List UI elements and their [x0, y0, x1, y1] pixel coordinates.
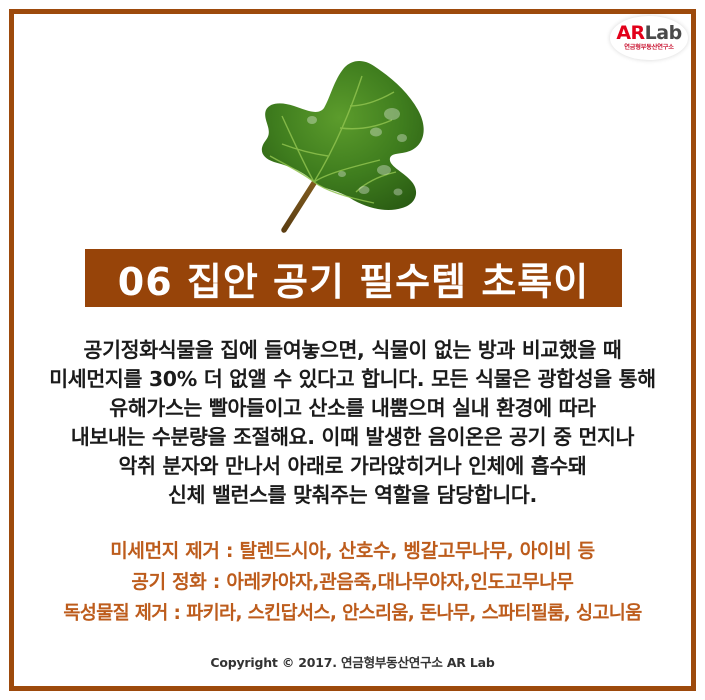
- body-line: 내보내는 수분량을 조절해요. 이때 발생한 음이온은 공기 중 먼지나: [20, 423, 685, 452]
- page-title: 06 집안 공기 필수템 초록이: [118, 251, 589, 306]
- copyright-notice: Copyright © 2017. 연금형부동산연구소 AR Lab: [0, 652, 705, 671]
- logo-lab-text: Lab: [645, 22, 682, 44]
- plant-category-toxin-removal: 독성물질 제거 : 파키라, 스킨답서스, 안스리움, 돈나무, 스파티필룸, …: [10, 598, 695, 629]
- logo-subtitle: 연금형부동산연구소: [624, 45, 673, 51]
- body-line: 공기정화식물을 집에 들여놓으면, 식물이 없는 방과 비교했을 때: [20, 336, 685, 365]
- ivy-leaf-image: [252, 58, 457, 243]
- body-line: 신체 밸런스를 맞춰주는 역할을 담당합니다.: [20, 481, 685, 510]
- plant-category-list: 미세먼지 제거 : 탈렌드시아, 산호수, 벵갈고무나무, 아이비 등 공기 정…: [10, 536, 695, 629]
- section-title-band: 06 집안 공기 필수템 초록이: [85, 249, 622, 307]
- infographic-poster: ARLab 연금형부동산연구소: [0, 0, 705, 700]
- ivy-leaf-icon: [252, 58, 457, 243]
- body-paragraph: 공기정화식물을 집에 들여놓으면, 식물이 없는 방과 비교했을 때 미세먼지를…: [20, 336, 685, 510]
- logo-ar-text: AR: [616, 22, 644, 44]
- plant-category-dust-removal: 미세먼지 제거 : 탈렌드시아, 산호수, 벵갈고무나무, 아이비 등: [10, 536, 695, 567]
- body-line: 악취 분자와 만나서 아래로 가라앉히거나 인체에 흡수돼: [20, 452, 685, 481]
- body-line: 미세먼지를 30% 더 없앨 수 있다고 합니다. 모든 식물은 광합성을 통해: [20, 365, 685, 394]
- logo-wordmark: ARLab: [616, 24, 681, 43]
- body-line: 유해가스는 빨아들이고 산소를 내뿜으며 실내 환경에 따라: [20, 394, 685, 423]
- arlab-logo: ARLab 연금형부동산연구소: [610, 16, 688, 60]
- plant-category-air-purification: 공기 정화 : 아레카야자,관음죽,대나무야자,인도고무나무: [10, 567, 695, 598]
